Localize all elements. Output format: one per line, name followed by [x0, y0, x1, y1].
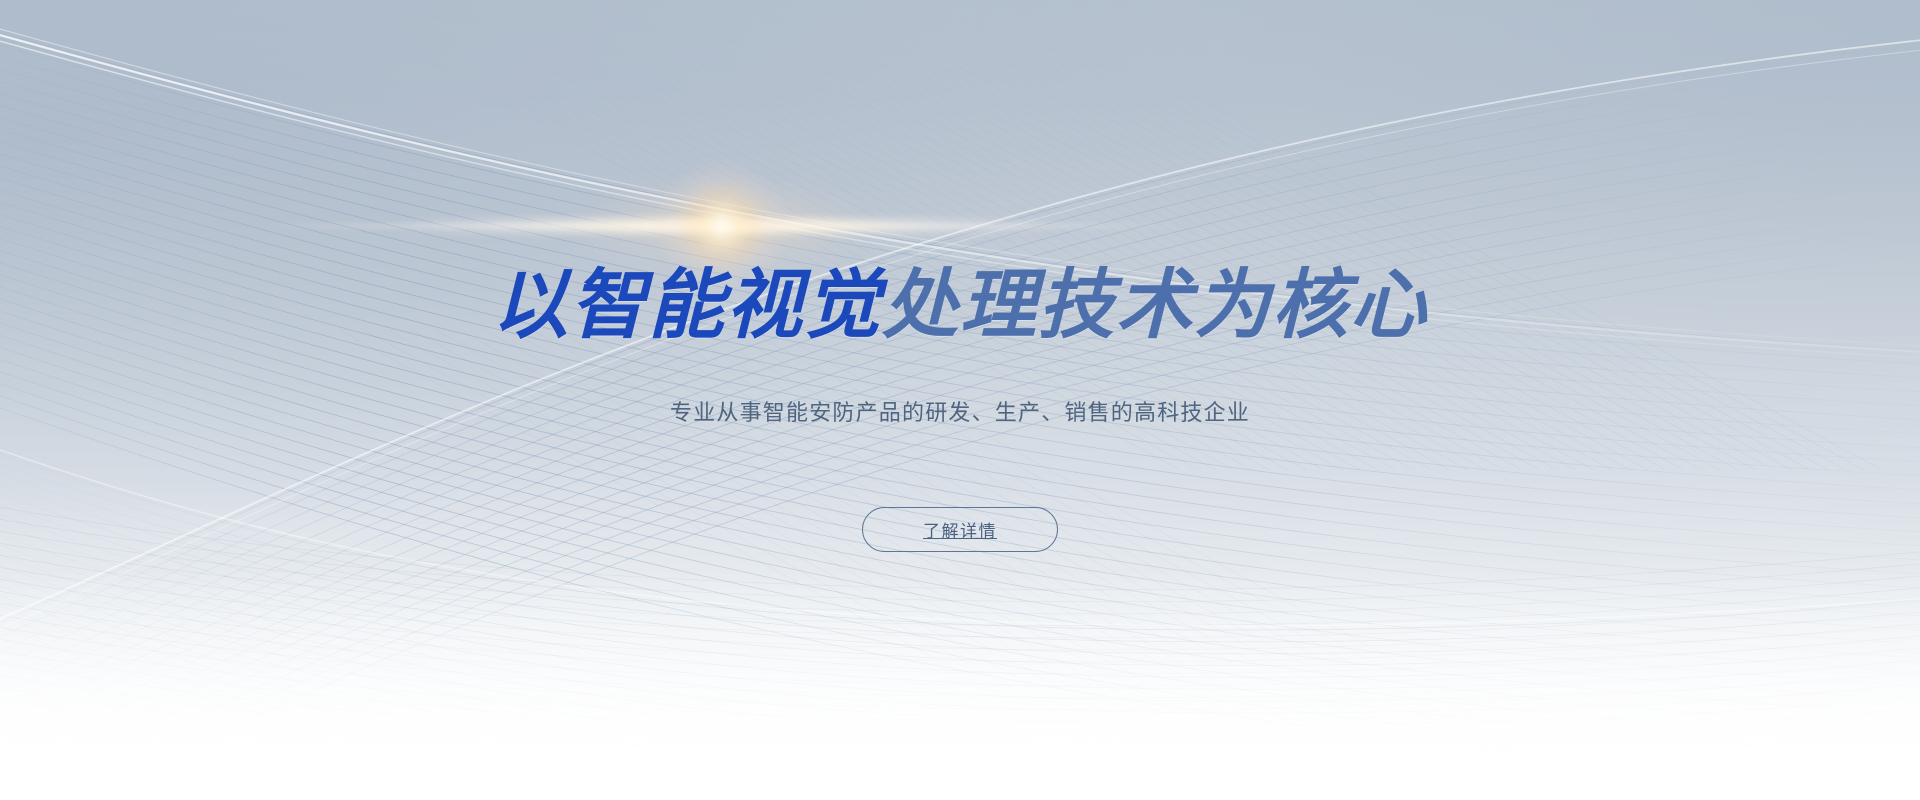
headline-segment-strong: 以智能视觉: [492, 260, 882, 349]
bottom-white-fade: [0, 570, 1920, 800]
hero-subtitle: 专业从事智能安防产品的研发、生产、销售的高科技企业: [670, 398, 1250, 430]
headline-segment-soft: 处理技术为核心: [882, 260, 1428, 349]
page-title: 以智能视觉处理技术为核心: [492, 262, 1428, 348]
learn-more-button[interactable]: 了解详情: [862, 507, 1058, 552]
hero-content: 以智能视觉处理技术为核心 专业从事智能安防产品的研发、生产、销售的高科技企业 了…: [0, 0, 1920, 800]
hero-banner: 以智能视觉处理技术为核心 专业从事智能安防产品的研发、生产、销售的高科技企业 了…: [0, 0, 1920, 800]
